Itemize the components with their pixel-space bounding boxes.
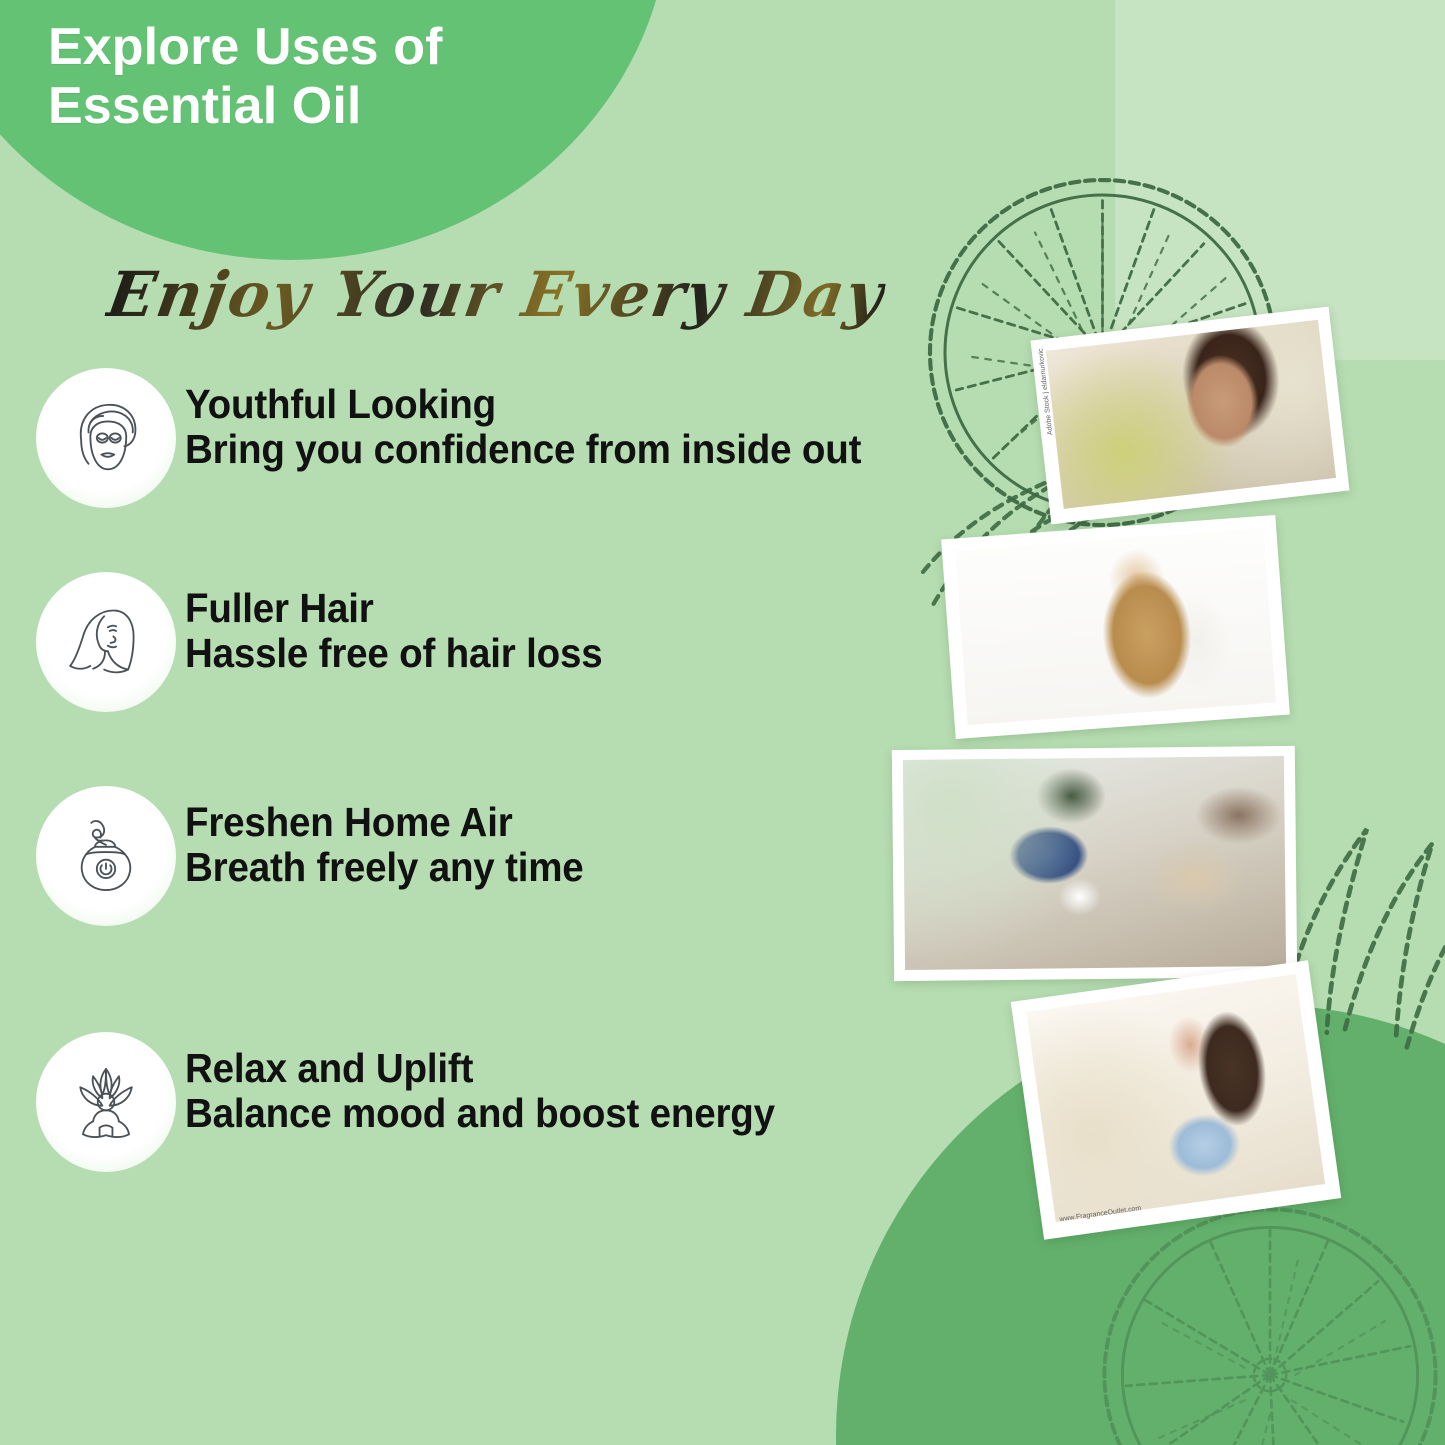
long-hair-profile-icon	[36, 572, 176, 712]
feature-subtitle: Hassle free of hair loss	[185, 630, 602, 677]
feature-title: Youthful Looking	[185, 382, 861, 426]
page-title: Explore Uses of Essential Oil	[48, 18, 668, 137]
feature-row-fuller-hair: Fuller Hair Hassle free of hair loss	[36, 572, 629, 712]
photo-long-blonde-hair	[941, 515, 1290, 739]
feature-title: Freshen Home Air	[185, 800, 584, 844]
photo-woman-applying-perfume-image	[1026, 974, 1325, 1222]
feature-subtitle: Breath freely any time	[185, 844, 584, 891]
page-title-line-2: Essential Oil	[48, 77, 668, 136]
photo-living-room-diffuser-image	[903, 756, 1286, 970]
lotus-meditation-icon	[36, 1032, 176, 1172]
photo-smiling-woman: Adobe Stock | eldarnurkovic	[1030, 307, 1349, 525]
aroma-diffuser-icon	[36, 786, 176, 926]
feature-title: Fuller Hair	[185, 586, 602, 630]
feature-text-fuller-hair: Fuller Hair Hassle free of hair loss	[185, 572, 629, 677]
photo-living-room-diffuser	[892, 746, 1297, 981]
face-mask-icon	[36, 368, 176, 508]
feature-text-freshen-home-air: Freshen Home Air Breath freely any time	[185, 786, 609, 891]
feature-row-freshen-home-air: Freshen Home Air Breath freely any time	[36, 786, 609, 926]
feature-subtitle: Balance mood and boost energy	[185, 1090, 775, 1137]
photo-long-blonde-hair-image	[955, 528, 1276, 725]
feature-text-youthful-looking: Youthful Looking Bring you confidence fr…	[185, 368, 904, 473]
feature-row-relax-and-uplift: Relax and Uplift Balance mood and boost …	[36, 1032, 813, 1172]
feature-row-youthful-looking: Youthful Looking Bring you confidence fr…	[36, 368, 904, 508]
infographic-canvas: Explore Uses of Essential Oil Enjoy Your…	[0, 0, 1445, 1445]
feature-subtitle: Bring you confidence from inside out	[185, 426, 861, 473]
feature-text-relax-and-uplift: Relax and Uplift Balance mood and boost …	[185, 1032, 813, 1137]
citrus-slice-bottom-icon	[1090, 1195, 1445, 1445]
tagline-script: Enjoy Your Every Day	[102, 258, 890, 331]
photo-smiling-woman-image	[1046, 320, 1336, 509]
page-title-line-1: Explore Uses of	[48, 18, 668, 77]
photo-woman-applying-perfume: www.FragranceOutlet.com	[1011, 960, 1341, 1239]
feature-title: Relax and Uplift	[185, 1046, 775, 1090]
